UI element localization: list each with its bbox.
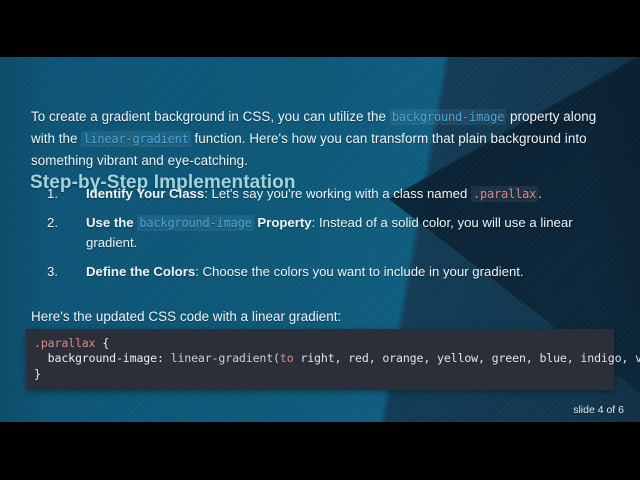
list-item: 2. Use the background-image Property: In… bbox=[30, 213, 615, 253]
list-item-number: 1. bbox=[47, 184, 58, 204]
letterbox-bottom bbox=[0, 422, 640, 480]
list-item: 3. Define the Colors: Choose the colors … bbox=[30, 262, 615, 282]
css-code-block: .parallax { background-image: linear-gra… bbox=[26, 329, 614, 391]
slide-canvas: To create a gradient background in CSS, … bbox=[0, 57, 640, 422]
slide-number-indicator: slide 4 of 6 bbox=[573, 404, 624, 416]
list-item-text-1: : Let's say you're working with a class … bbox=[204, 186, 471, 201]
list-item-label: Define the Colors bbox=[86, 264, 195, 279]
inline-code-parallax-class: .parallax bbox=[471, 186, 538, 202]
inline-code-background-image-1: background-image bbox=[390, 109, 506, 125]
intro-paragraph: To create a gradient background in CSS, … bbox=[31, 106, 611, 171]
list-item-label: Use the bbox=[86, 215, 134, 230]
list-item-text-2: . bbox=[538, 186, 542, 201]
list-item-text-1: : Choose the colors you want to include … bbox=[195, 264, 523, 279]
code-function: linear-gradient( bbox=[171, 351, 280, 365]
list-item-label: Identify Your Class bbox=[86, 186, 204, 201]
code-close-brace: } bbox=[34, 367, 41, 381]
code-property: background-image: bbox=[34, 351, 171, 365]
inline-code-linear-gradient: linear-gradient bbox=[81, 131, 190, 147]
code-keyword: to bbox=[280, 351, 294, 365]
letterbox-top bbox=[0, 0, 640, 57]
slide-content: To create a gradient background in CSS, … bbox=[0, 57, 640, 422]
inline-code-background-image-2: background-image bbox=[137, 215, 253, 231]
list-item-number: 2. bbox=[47, 213, 58, 233]
video-player-frame: To create a gradient background in CSS, … bbox=[0, 0, 640, 480]
list-item-number: 3. bbox=[47, 262, 58, 282]
code-arguments: right, red, orange, yellow, green, blue,… bbox=[294, 351, 640, 365]
steps-list: 1. Identify Your Class: Let's say you're… bbox=[30, 184, 615, 291]
code-intro-line: Here's the updated CSS code with a linea… bbox=[31, 306, 611, 327]
code-selector: .parallax bbox=[34, 336, 95, 350]
code-open-brace: { bbox=[95, 336, 109, 350]
intro-text-part-1: To create a gradient background in CSS, … bbox=[31, 109, 390, 124]
list-item-label-2: Property bbox=[257, 215, 311, 230]
list-item: 1. Identify Your Class: Let's say you're… bbox=[30, 184, 615, 204]
